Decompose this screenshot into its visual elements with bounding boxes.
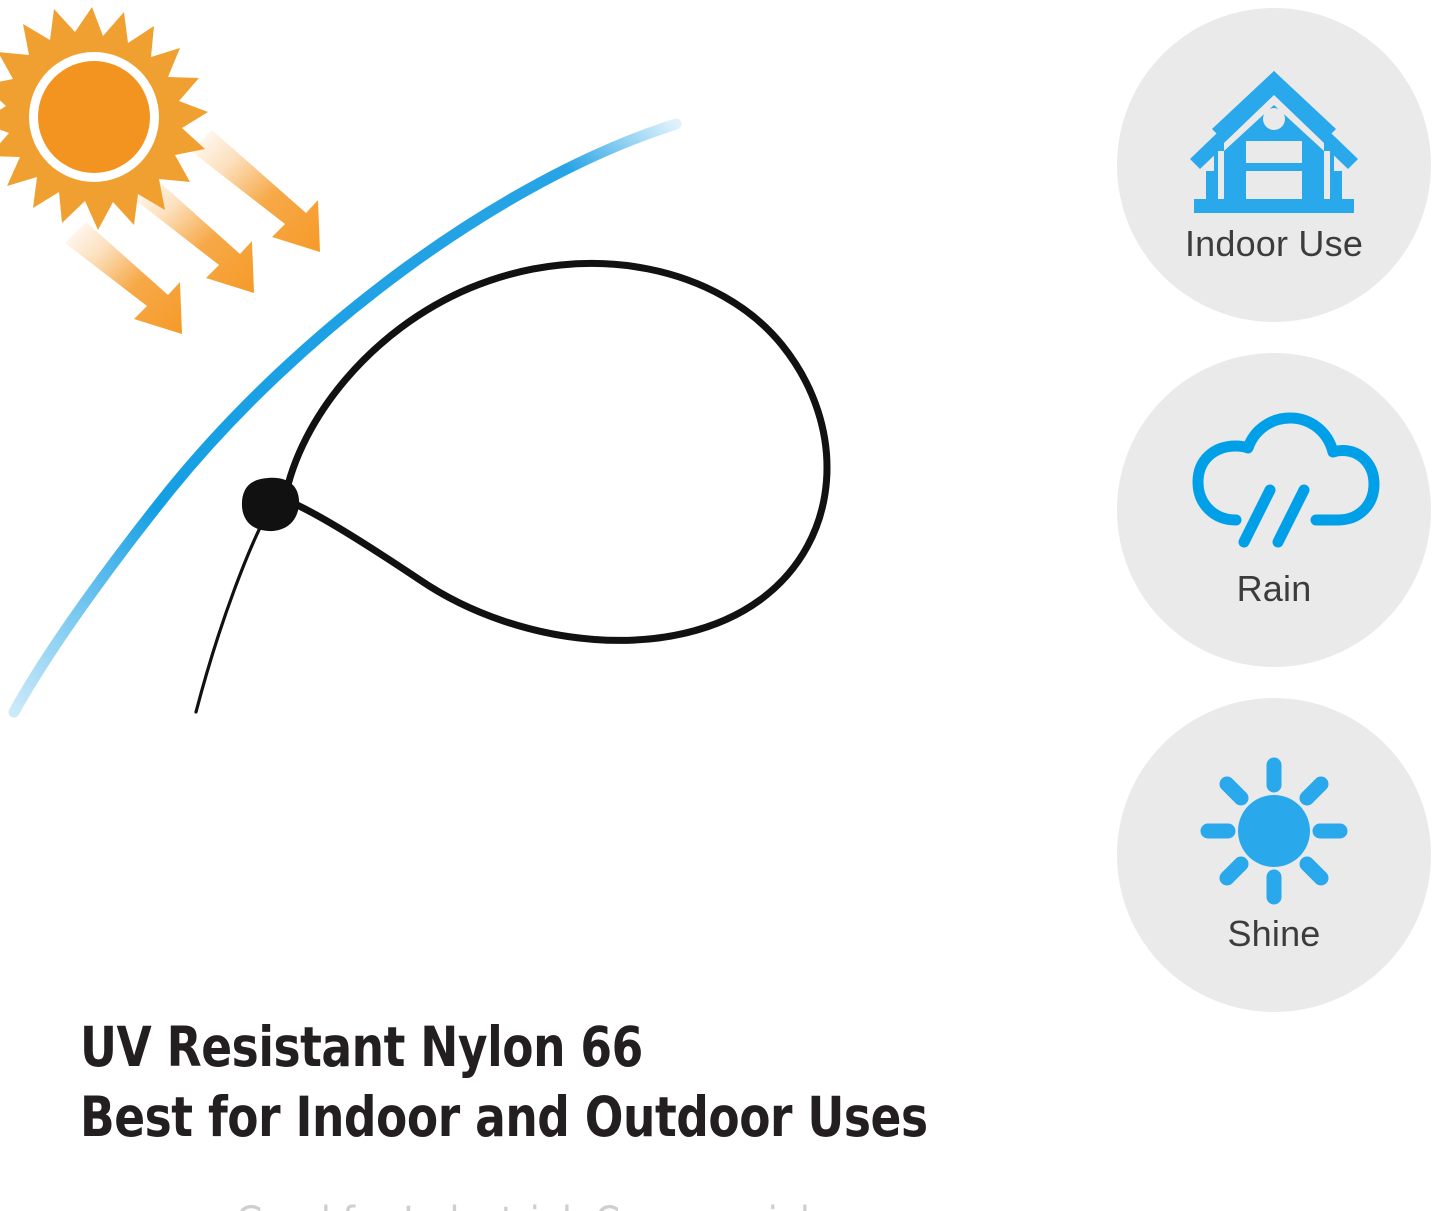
headline-line-1: UV Resistant Nylon 66 <box>80 1012 1000 1082</box>
sun-burst-icon <box>0 7 208 230</box>
badge-shine[interactable]: Shine <box>1117 698 1431 1012</box>
cable-tie-icon <box>196 263 827 712</box>
sun-icon <box>1187 756 1362 906</box>
feature-badge-column: Indoor Use Rain <box>1103 8 1432 1018</box>
uv-shield-arc-icon <box>14 124 676 712</box>
badge-label: Rain <box>1237 569 1312 609</box>
headline-line-2: Best for Indoor and Outdoor Uses <box>80 1082 1000 1152</box>
headline-line-3-text: Good for Industrial, Commercial <box>236 1203 1036 1211</box>
house-icon <box>1187 66 1362 216</box>
badge-rain[interactable]: Rain <box>1117 353 1431 667</box>
badge-label: Indoor Use <box>1185 224 1363 264</box>
rain-cloud-icon <box>1187 411 1362 561</box>
headline-line-3-cutoff: Good for Industrial, Commercial <box>236 1203 1036 1211</box>
badge-indoor-use[interactable]: Indoor Use <box>1117 8 1431 322</box>
infographic-canvas: Indoor Use Rain <box>0 0 1432 1211</box>
uv-resistance-illustration <box>0 0 1060 980</box>
badge-label: Shine <box>1227 914 1320 954</box>
headline-block: UV Resistant Nylon 66 Best for Indoor an… <box>80 1012 1080 1152</box>
